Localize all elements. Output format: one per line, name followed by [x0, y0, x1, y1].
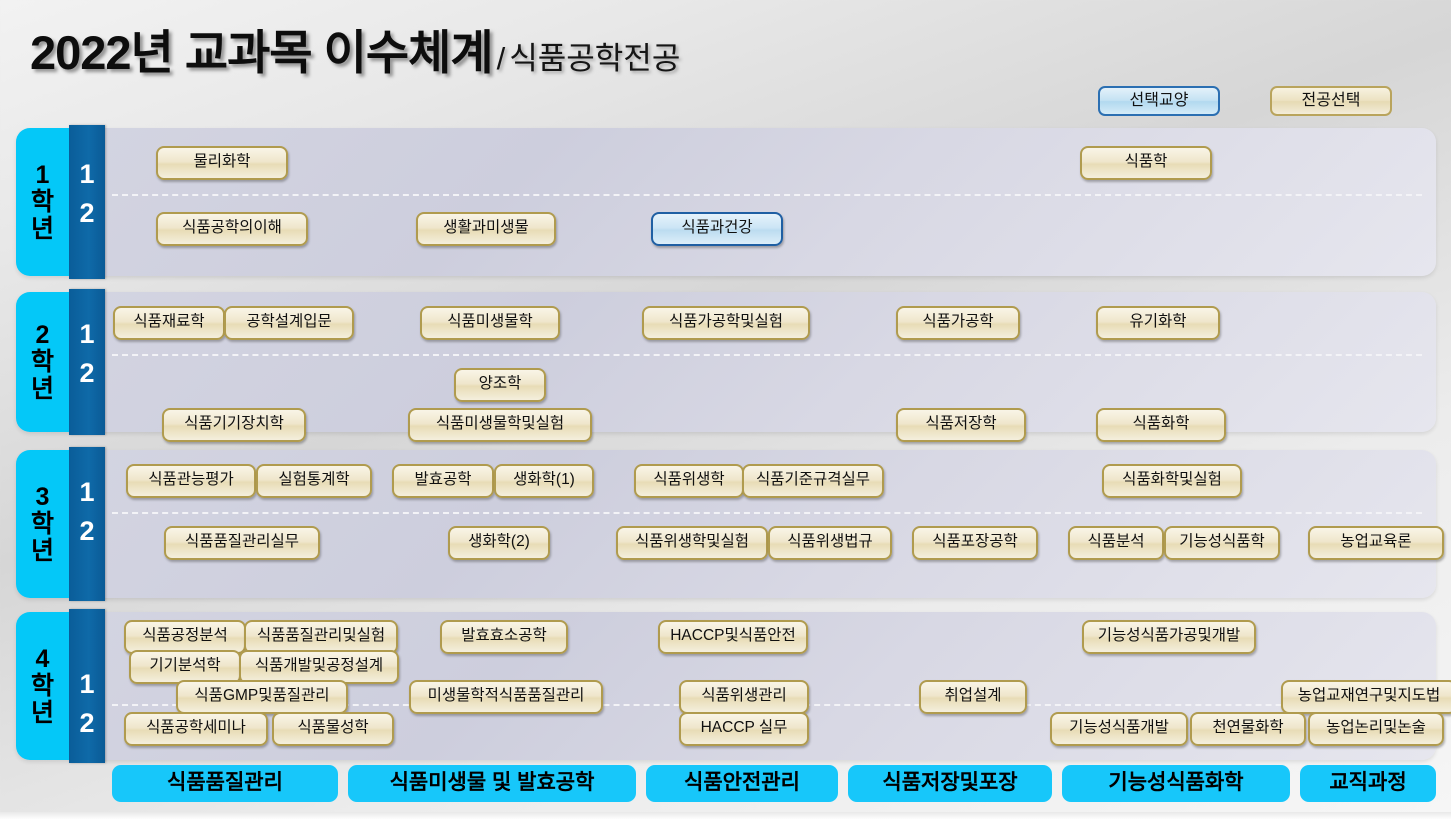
course-box[interactable]: 식품개발및공정설계 — [239, 650, 399, 684]
legend-major-chip: 전공선택 — [1270, 86, 1392, 116]
course-box[interactable]: 식품품질관리실무 — [164, 526, 320, 560]
course-box[interactable]: HACCP 실무 — [679, 712, 809, 746]
course-box[interactable]: 식품학 — [1080, 146, 1212, 180]
course-box[interactable]: 실험통계학 — [256, 464, 372, 498]
course-box[interactable]: 천연물화학 — [1190, 712, 1306, 746]
course-layer: 식품재료학공학설계입문식품미생물학식품가공학및실험식품가공학유기화학양조학식품기… — [16, 292, 1436, 432]
course-box[interactable]: 유기화학 — [1096, 306, 1220, 340]
course-box[interactable]: 식품재료학 — [113, 306, 225, 340]
course-box[interactable]: 농업논리및논술 — [1308, 712, 1444, 746]
course-box[interactable]: 식품품질관리및실험 — [244, 620, 398, 654]
track-chip[interactable]: 식품미생물 및 발효공학 — [348, 765, 636, 802]
course-box[interactable]: 미생물학적식품품질관리 — [409, 680, 603, 714]
title-main-text: 2022년 교과목 이수체계 — [30, 26, 493, 79]
track-bar: 식품품질관리식품미생물 및 발효공학식품안전관리식품저장및포장기능성식품화학교직… — [0, 765, 1451, 809]
course-box[interactable]: 식품GMP및품질관리 — [176, 680, 348, 714]
course-box[interactable]: 생화학(1) — [494, 464, 594, 498]
title-separator: / — [497, 41, 506, 76]
course-box[interactable]: 식품가공학 — [896, 306, 1020, 340]
course-box[interactable]: 식품위생법규 — [768, 526, 892, 560]
year-band-4: 4학년12식품공정분석식품품질관리및실험발효효소공학HACCP및식품안전기능성식… — [16, 612, 1436, 760]
title-sub-text: 식품공학전공 — [509, 41, 680, 76]
course-box[interactable]: 식품화학및실험 — [1102, 464, 1242, 498]
course-box[interactable]: 식품분석 — [1068, 526, 1164, 560]
legend: 선택교양 전공선택 — [1098, 86, 1438, 116]
course-box[interactable]: 식품기준규격실무 — [742, 464, 884, 498]
course-box[interactable]: 식품과건강 — [651, 212, 783, 246]
course-box[interactable]: 식품저장학 — [896, 408, 1026, 442]
course-box[interactable]: 기능성식품가공및개발 — [1082, 620, 1256, 654]
track-chip[interactable]: 식품품질관리 — [112, 765, 338, 802]
course-box[interactable]: 식품미생물학및실험 — [408, 408, 592, 442]
course-box[interactable]: 농업교육론 — [1308, 526, 1444, 560]
course-box[interactable]: HACCP및식품안전 — [658, 620, 808, 654]
track-chip[interactable]: 기능성식품화학 — [1062, 765, 1290, 802]
course-box[interactable]: 발효공학 — [392, 464, 494, 498]
course-box[interactable]: 식품화학 — [1096, 408, 1226, 442]
track-chip[interactable]: 교직과정 — [1300, 765, 1436, 802]
course-box[interactable]: 식품가공학및실험 — [642, 306, 810, 340]
course-box[interactable]: 식품포장공학 — [912, 526, 1038, 560]
course-box[interactable]: 식품미생물학 — [420, 306, 560, 340]
page-title: 2022년 교과목 이수체계/식품공학전공 — [30, 14, 680, 83]
course-box[interactable]: 농업교재연구및지도법 — [1281, 680, 1451, 714]
course-box[interactable]: 식품공학세미나 — [124, 712, 268, 746]
course-box[interactable]: 양조학 — [454, 368, 546, 402]
course-box[interactable]: 기능성식품학 — [1164, 526, 1280, 560]
course-box[interactable]: 식품물성학 — [272, 712, 394, 746]
course-box[interactable]: 생활과미생물 — [416, 212, 556, 246]
course-box[interactable]: 기능성식품개발 — [1050, 712, 1188, 746]
course-box[interactable]: 식품위생학 — [634, 464, 744, 498]
course-box[interactable]: 식품위생관리 — [679, 680, 809, 714]
course-box[interactable]: 발효효소공학 — [440, 620, 568, 654]
course-layer: 식품관능평가실험통계학발효공학생화학(1)식품위생학식품기준규격실무식품화학및실… — [16, 450, 1436, 598]
course-layer: 물리화학식품학식품공학의이해생활과미생물식품과건강 — [16, 128, 1436, 276]
course-box[interactable]: 식품관능평가 — [126, 464, 256, 498]
course-box[interactable]: 취업설계 — [919, 680, 1027, 714]
year-band-3: 3학년12식품관능평가실험통계학발효공학생화학(1)식품위생학식품기준규격실무식… — [16, 450, 1436, 598]
course-box[interactable]: 식품기기장치학 — [162, 408, 306, 442]
legend-elective-chip: 선택교양 — [1098, 86, 1220, 116]
year-band-2: 2학년12식품재료학공학설계입문식품미생물학식품가공학및실험식품가공학유기화학양… — [16, 292, 1436, 432]
course-layer: 식품공정분석식품품질관리및실험발효효소공학HACCP및식품안전기능성식품가공및개… — [16, 612, 1436, 760]
course-box[interactable]: 식품공정분석 — [124, 620, 246, 654]
track-chip[interactable]: 식품안전관리 — [646, 765, 838, 802]
year-band-1: 1학년12물리화학식품학식품공학의이해생활과미생물식품과건강 — [16, 128, 1436, 276]
course-box[interactable]: 기기분석학 — [129, 650, 241, 684]
course-box[interactable]: 식품위생학및실험 — [616, 526, 768, 560]
course-box[interactable]: 생화학(2) — [448, 526, 550, 560]
track-chip[interactable]: 식품저장및포장 — [848, 765, 1052, 802]
course-box[interactable]: 공학설계입문 — [224, 306, 354, 340]
course-box[interactable]: 물리화학 — [156, 146, 288, 180]
baseline-divider — [0, 812, 1451, 819]
course-box[interactable]: 식품공학의이해 — [156, 212, 308, 246]
